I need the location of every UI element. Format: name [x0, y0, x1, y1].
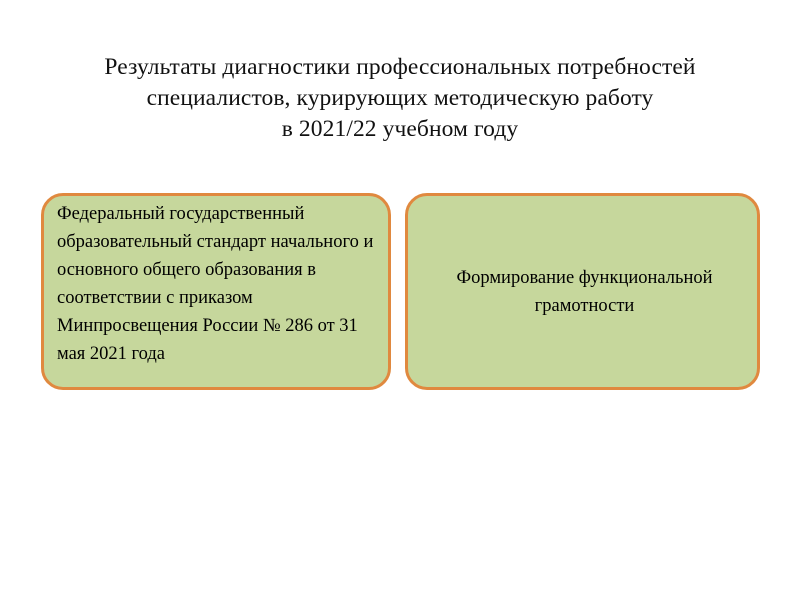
- fgos-box-label: Федеральный государственный образователь…: [57, 200, 382, 368]
- page-title: Результаты диагностики профессиональных …: [40, 52, 760, 145]
- slide-canvas: Результаты диагностики профессиональных …: [0, 0, 800, 600]
- functional-literacy-box-label: Формирование функциональной грамотности: [420, 196, 749, 387]
- content-boxes-row: Федеральный государственный образователь…: [41, 193, 760, 390]
- fgos-box[interactable]: Федеральный государственный образователь…: [41, 193, 391, 390]
- functional-literacy-box[interactable]: Формирование функциональной грамотности: [405, 193, 760, 390]
